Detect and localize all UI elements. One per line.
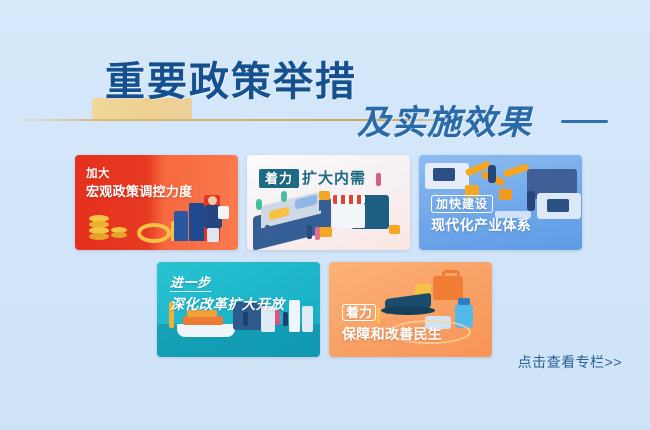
person-figure-icon <box>307 225 312 239</box>
shop-front <box>333 204 365 228</box>
banner-title-line1: 重要政策举措 <box>105 58 357 105</box>
card-caption-line1: 加大 <box>86 168 192 182</box>
port-building <box>289 300 300 332</box>
card-caption-line2: 保障和改善民生 <box>342 326 442 343</box>
card-modern-industry[interactable]: 加快建设 现代化产业体系 <box>419 155 582 250</box>
person-figure-icon <box>265 225 270 239</box>
card-caption-line2: 现代化产业体系 <box>431 217 531 234</box>
machine-screen <box>547 199 569 212</box>
person-figure-icon <box>376 173 381 186</box>
banner-title-block: 重要政策举措 及实施效果 <box>0 58 650 150</box>
card-caption-line2: 宏观政策调控力度 <box>86 184 192 199</box>
policy-banner: 重要政策举措 及实施效果 <box>0 0 650 430</box>
parcel-box-icon <box>319 227 332 237</box>
coin-icon <box>111 232 127 238</box>
card-caption-line2: 扩大内需 <box>302 170 366 188</box>
card-reform-opening[interactable]: 进一步 深化改革扩大开放 <box>157 262 320 357</box>
cargo-container <box>183 316 223 325</box>
view-column-link[interactable]: 点击查看专栏>> <box>518 352 622 372</box>
card-peoples-livelihood[interactable]: 着力 保障和改善民生 <box>329 262 492 357</box>
person-figure-icon <box>283 312 288 326</box>
port-building <box>302 306 313 332</box>
tree-icon <box>281 191 287 202</box>
bar-chart-icon <box>174 211 188 241</box>
person-figure-icon <box>243 312 248 326</box>
card-caption-line1: 着力 <box>259 169 299 188</box>
cargo-ship-icon <box>177 324 235 337</box>
card-macro-policy[interactable]: 加大 宏观政策调控力度 <box>75 155 238 250</box>
card-caption-line2: 深化改革扩大开放 <box>170 296 284 313</box>
card-caption-line1: 进一步 <box>170 275 211 292</box>
card-row-top: 加大 宏观政策调控力度 <box>75 155 582 250</box>
bar-chart-icon <box>189 203 204 241</box>
card-peoples-livelihood-caption: 着力 保障和改善民生 <box>342 304 442 343</box>
coin-icon <box>89 233 109 240</box>
briefcase-handle <box>442 270 460 281</box>
card-row-bottom: 进一步 深化改革扩大开放 着力 保障和改善民生 <box>157 262 492 357</box>
card-modern-industry-caption: 加快建设 现代化产业体系 <box>431 195 531 234</box>
title-trailing-dash <box>561 120 608 123</box>
coin-ring-icon <box>137 223 171 243</box>
card-caption-line1: 加快建设 <box>431 195 493 213</box>
card-caption-line1: 着力 <box>342 304 376 321</box>
person-figure-icon <box>315 227 320 240</box>
parcel-box-icon <box>389 225 400 234</box>
card-macro-policy-caption: 加大 宏观政策调控力度 <box>86 168 192 199</box>
person-figure-icon <box>488 165 496 183</box>
shop-awning <box>333 195 365 204</box>
medicine-bottle-cap <box>458 298 470 305</box>
tree-icon <box>256 199 262 210</box>
parcel-box-icon <box>319 191 330 200</box>
card-reform-opening-caption: 进一步 深化改革扩大开放 <box>170 274 284 312</box>
banner-title-line2: 及实施效果 <box>357 95 532 144</box>
card-domestic-demand[interactable]: 着力 扩大内需 <box>247 155 410 250</box>
machine-screen <box>433 168 455 181</box>
person-figure-icon <box>204 196 224 242</box>
card-domestic-demand-caption: 着力 扩大内需 <box>259 169 366 188</box>
robot-arm-icon <box>503 163 530 178</box>
